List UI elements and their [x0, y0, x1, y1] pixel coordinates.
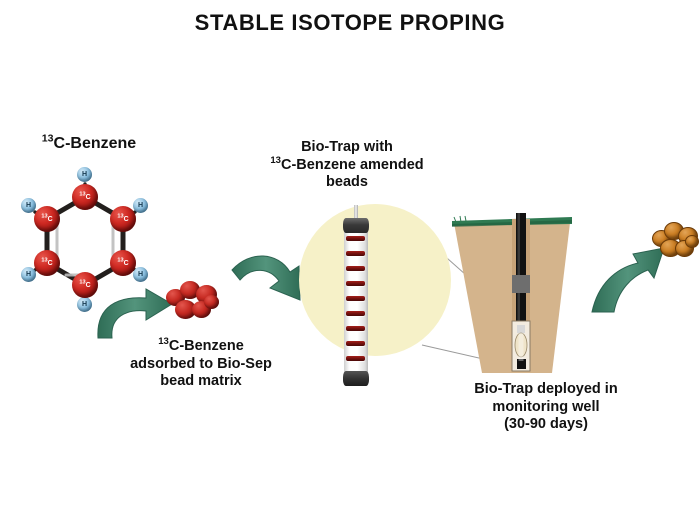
bead-band [346, 326, 365, 331]
well-screen [512, 321, 530, 371]
red-bead-cluster [166, 281, 222, 325]
well-graphic [452, 213, 572, 383]
label-biotrap-deployed: Bio-Trap deployed in monitoring well (30… [440, 381, 652, 434]
label-adsorbed-line3: bead matrix [110, 373, 292, 391]
bead-band [346, 341, 365, 346]
colonized-bead-cluster [652, 222, 698, 262]
hydrogen-atom: H [133, 267, 148, 282]
grass-surface [452, 217, 572, 226]
hydrogen-atom: H [77, 167, 92, 182]
arrow-beads-to-biotrap [232, 256, 300, 300]
bead-band [346, 296, 365, 301]
canister-top-cap [343, 218, 369, 233]
canister-bottom-cap [343, 371, 369, 386]
canister-hanger-wire [354, 205, 358, 219]
carbon-atom: 13C [72, 184, 98, 210]
monitoring-well-cross-section [452, 213, 572, 383]
well-casing [516, 213, 526, 333]
label-biotrap-line2: 13C-Benzene amended [252, 157, 442, 175]
bead-band [346, 356, 365, 361]
label-biotrap-line3: beads [252, 174, 442, 192]
bottom-margin [0, 465, 700, 525]
magnified-view-circle [299, 204, 451, 356]
carbon-atom: 13C [34, 206, 60, 232]
hydrogen-atom: H [21, 267, 36, 282]
benzene-molecule: 13C 13C 13C 13C 13C 13C H H H H H H [24, 180, 146, 302]
carbon-atom: 13C [110, 250, 136, 276]
carbon-atom: 13C [72, 272, 98, 298]
carbon-atom: 13C [110, 206, 136, 232]
diagram-canvas: STABLE ISOTOPE PROPING 13C-Benzene [0, 0, 700, 525]
label-deployed-line1: Bio-Trap deployed in [440, 381, 652, 399]
label-adsorbed-line1: 13C-Benzene [110, 338, 292, 356]
bio-trap-canister [343, 218, 369, 386]
label-biotrap-with-beads: Bio-Trap with 13C-Benzene amended beads [252, 139, 442, 192]
deployed-trap-cap [517, 325, 525, 333]
label-13c-benzene-sup: 13C-Benzene [42, 135, 136, 152]
label-deployed-line3: (30-90 days) [440, 416, 652, 434]
annular-seal [512, 275, 530, 293]
bead [204, 295, 219, 309]
deployed-trap-base [517, 359, 526, 369]
hydrogen-atom: H [133, 198, 148, 213]
bead-band [346, 281, 365, 286]
bead-band [346, 251, 365, 256]
label-adsorbed-line2: adsorbed to Bio-Sep [110, 356, 292, 374]
hydrogen-atom: H [21, 198, 36, 213]
bead-band [346, 236, 365, 241]
label-adsorbed-to-bio-sep: 13C-Benzene adsorbed to Bio-Sep bead mat… [110, 338, 292, 391]
hydrogen-atom: H [77, 297, 92, 312]
carbon-atom: 13C [34, 250, 60, 276]
deployed-bio-trap [515, 333, 527, 357]
bead [685, 235, 699, 248]
page-title: STABLE ISOTOPE PROPING [0, 10, 700, 36]
label-deployed-line2: monitoring well [440, 399, 652, 417]
bead-band [346, 266, 365, 271]
label-13c-benzene: 13C-Benzene [14, 134, 164, 154]
borehole-annulus [512, 219, 530, 371]
soil-body [454, 223, 570, 373]
bead-band [346, 311, 365, 316]
